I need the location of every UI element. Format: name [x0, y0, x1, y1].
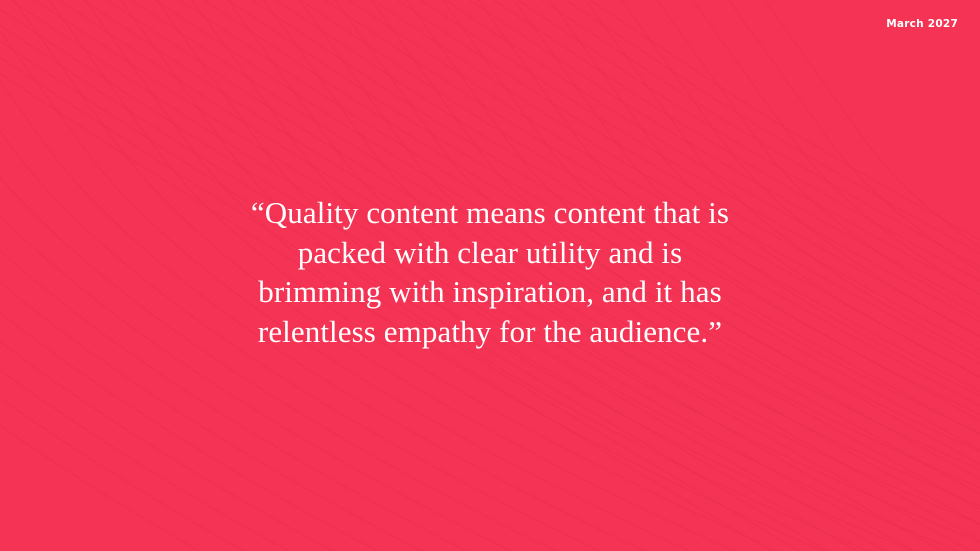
- quote-block: “Quality content means content that is p…: [160, 193, 820, 351]
- quote-text: “Quality content means content that is p…: [160, 193, 820, 351]
- date-caption: March 2027: [886, 19, 958, 30]
- quote-slide: March 2027 “Quality content means conten…: [0, 0, 980, 551]
